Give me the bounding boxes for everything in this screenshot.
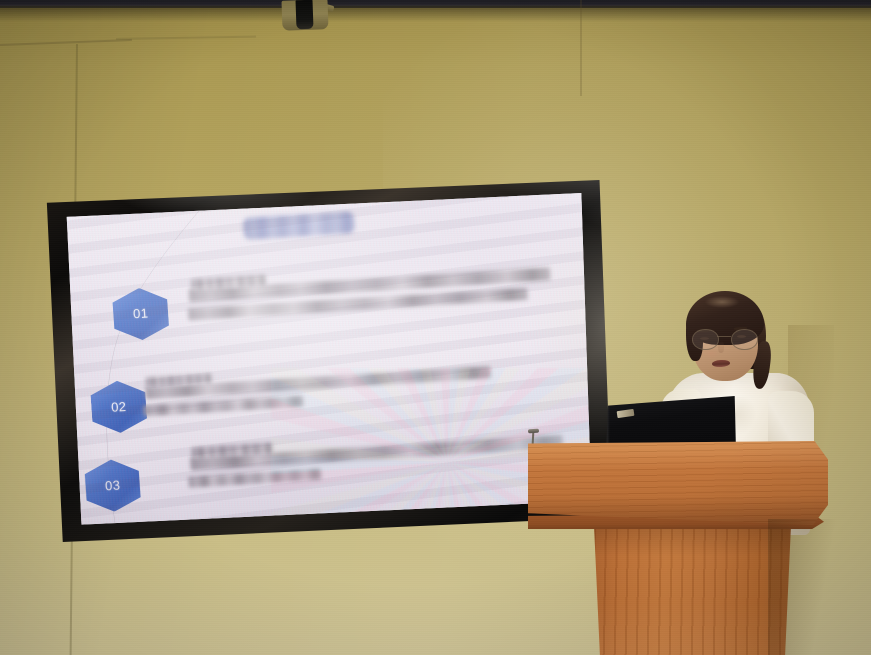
slide-content: 01 02 03 bbox=[44, 180, 612, 542]
slide-marker-01-label: 01 bbox=[133, 305, 149, 321]
glasses-bridge bbox=[717, 336, 731, 337]
slide-text-redacted-02-line2 bbox=[144, 395, 304, 416]
slide-marker-03: 03 bbox=[84, 458, 142, 513]
wall-display[interactable]: 01 02 03 bbox=[44, 180, 612, 542]
fixture-lens bbox=[295, 0, 313, 29]
display-panel: 01 02 03 bbox=[44, 180, 612, 542]
ceiling-shadow bbox=[0, 6, 871, 22]
slide-marker-03-label: 03 bbox=[104, 477, 120, 493]
glasses-lens-left bbox=[692, 329, 719, 350]
slide-text-redacted-03-line2 bbox=[188, 468, 321, 488]
presentation-room-scene: 01 02 03 bbox=[0, 0, 871, 655]
slide-marker-01: 01 bbox=[112, 286, 170, 341]
microphone-stem bbox=[532, 432, 535, 444]
ceiling-projector-icon bbox=[282, 0, 328, 36]
presenter-hair-highlight bbox=[702, 295, 742, 309]
glasses-icon bbox=[691, 329, 759, 349]
wooden-podium bbox=[528, 441, 838, 655]
slide-title-redacted bbox=[243, 211, 356, 239]
microphone-icon bbox=[528, 429, 539, 434]
slide-marker-02: 02 bbox=[90, 379, 148, 434]
glasses-lens-right bbox=[731, 329, 758, 350]
podium-top-surface bbox=[528, 441, 828, 525]
podium-column bbox=[594, 525, 791, 655]
slide-surface: 01 02 03 bbox=[44, 180, 612, 542]
slide-marker-02-label: 02 bbox=[111, 398, 127, 414]
